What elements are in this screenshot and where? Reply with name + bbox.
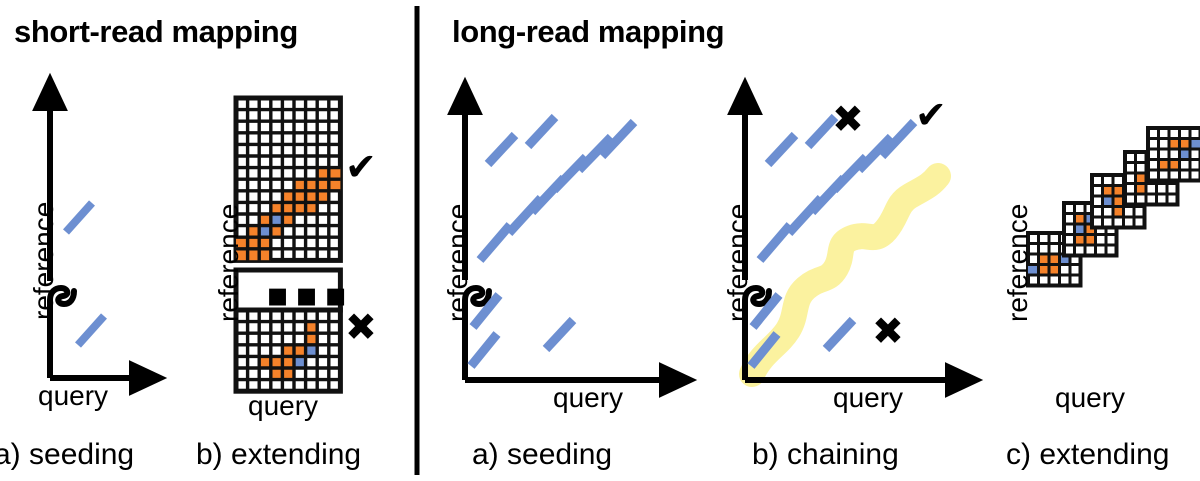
panel-long-read-seeding [465,108,666,380]
reject-cross-icon: ✖ [872,312,904,350]
x-axis-label-query: query [38,382,108,410]
panel-short-read-seeding [50,104,136,378]
caption-long-read-extending: c) extending [1006,440,1169,470]
accept-checkmark-icon: ✔ [345,148,377,186]
x-axis-label-query: query [553,384,623,412]
y-axis-label-reference: reference [30,202,58,320]
panel-long-read-chaining [745,108,952,380]
caption-long-read-chaining: b) chaining [752,440,899,470]
seed-segment [78,316,104,345]
caption-long-read-seeding: a) seeding [472,440,612,470]
chain-highlight-band [752,176,938,374]
figure-root: short-read mapping long-read mapping [0,0,1200,481]
y-axis-label-reference: reference [215,204,243,322]
x-axis-label-query: query [833,384,903,412]
panel-short-read-extending [236,98,340,391]
panel-long-read-extending [1028,128,1200,286]
y-axis-label-reference: reference [724,204,752,322]
y-axis-label-reference: reference [1004,204,1032,322]
grid-ellipsis: ▪▪▪ [266,278,353,312]
accept-checkmark-icon: ✔ [915,96,947,134]
caption-short-read-seeding: a) seeding [0,440,134,470]
extend-top-gridlines [236,98,340,260]
reject-cross-icon: ✖ [832,100,864,138]
caption-short-read-extending: b) extending [196,440,361,470]
x-axis-label-query: query [248,392,318,420]
seed-segment [66,203,92,232]
y-axis-label-reference: reference [444,204,472,322]
extend-block [1148,128,1200,181]
x-axis-label-query: query [1055,384,1125,412]
